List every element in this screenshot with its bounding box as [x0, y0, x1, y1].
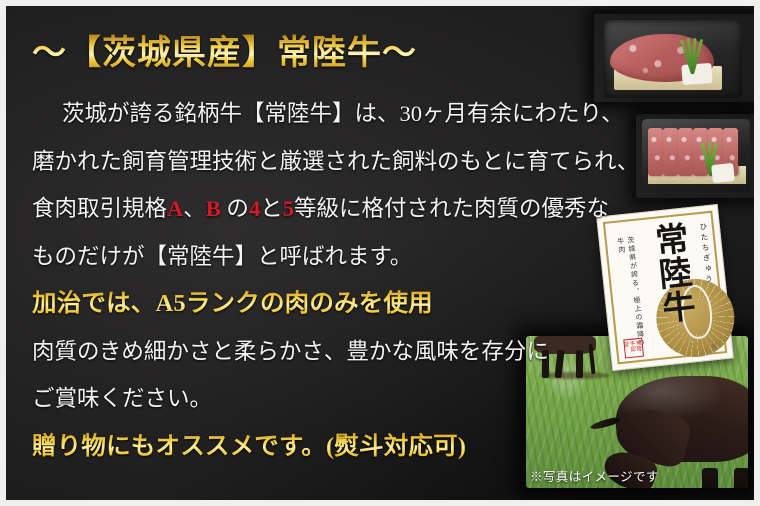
sliced-beef-tray-photo: [636, 114, 754, 198]
body-line-4: ものだけが【常陸牛】と呼ばれます。: [32, 233, 607, 281]
beef-slice-shape: [663, 128, 678, 176]
certificate-corner-mark: 証: [711, 342, 717, 351]
beef-slice-shape: [678, 128, 693, 176]
grade-a: A: [167, 196, 183, 221]
body-line-6: ご賞味ください。: [32, 375, 607, 423]
grade-sep-1: 、: [183, 196, 206, 221]
green-garnish-shape: [678, 36, 704, 74]
body-line-5: 肉質のきめ細かさと柔らかさ、豊かな風味を存分に: [32, 328, 607, 376]
copy-block: 〜【茨城県産】常陸牛〜 茨城が誇る銘柄牛【常陸牛】は、30ヶ月有余にわたり、 磨…: [32, 28, 607, 470]
photo-disclaimer-caption: ※写真はイメージです: [530, 466, 659, 485]
promotional-banner: 〜【茨城県産】常陸牛〜 茨城が誇る銘柄牛【常陸牛】は、30ヶ月有余にわたり、 磨…: [0, 0, 760, 506]
grade-suffix: 等級に格付された肉質の優秀な: [294, 196, 609, 221]
gold-line-a5-only: 加治では、A5ランクの肉のみを使用: [32, 280, 607, 328]
page-title: 〜【茨城県産】常陸牛〜: [32, 28, 607, 80]
hitachi-beef-certificate-card: 常陸牛 ひたちぎゅう 茨城県が誇る、極上の霜降り牛肉 常陸牛認証 証: [596, 204, 734, 371]
grade-sep-2: の: [221, 196, 249, 221]
grade-sep-3: と: [260, 196, 283, 221]
body-line-2: 磨かれた飼育管理技術と厳選された飼料のもとに育てられ、: [32, 138, 607, 186]
fat-block-shape: [711, 163, 735, 183]
cow-leg-shape: [702, 468, 718, 488]
body-line-3-grade: 食肉取引規格A、B の4と5等級に格付された肉質の優秀な: [32, 185, 607, 233]
grade-5: 5: [283, 196, 294, 221]
gold-line-gift: 贈り物にもオススメです。(熨斗対応可): [32, 423, 607, 471]
red-seal-stamp-icon: 常陸牛認証: [623, 338, 644, 359]
grade-4: 4: [249, 196, 260, 221]
title-spacer: [32, 80, 607, 90]
steak-in-tray-photo: [594, 14, 754, 102]
banner-dark-panel: 〜【茨城県産】常陸牛〜 茨城が誇る銘柄牛【常陸牛】は、30ヶ月有余にわたり、 磨…: [6, 6, 754, 500]
cow-leg-shape: [734, 468, 748, 488]
beef-slice-shape: [648, 128, 663, 176]
grade-prefix: 食肉取引規格: [32, 196, 167, 221]
grade-b: B: [206, 196, 221, 221]
body-line-1: 茨城が誇る銘柄牛【常陸牛】は、30ヶ月有余にわたり、: [32, 90, 607, 138]
